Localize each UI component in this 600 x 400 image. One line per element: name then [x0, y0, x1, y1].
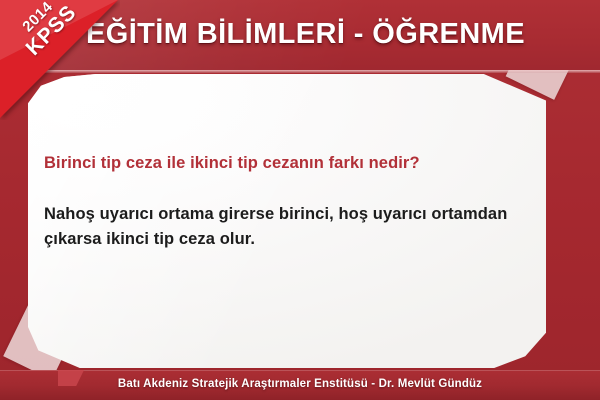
- corner-badge: 2014 KPSS: [0, 0, 120, 120]
- answer-text: Nahoş uyarıcı ortama girerse birinci, ho…: [44, 202, 518, 252]
- question-text: Birinci tip ceza ile ikinci tip cezanın …: [44, 152, 514, 174]
- footer-top-highlight: [0, 370, 600, 371]
- page-title: EĞİTİM BİLİMLERİ - ÖĞRENME: [86, 14, 556, 54]
- footer-credit-text: Batı Akdeniz Stratejik Araştırmaler Enst…: [0, 374, 600, 394]
- slide-canvas: Birinci tip ceza ile ikinci tip cezanın …: [0, 0, 600, 400]
